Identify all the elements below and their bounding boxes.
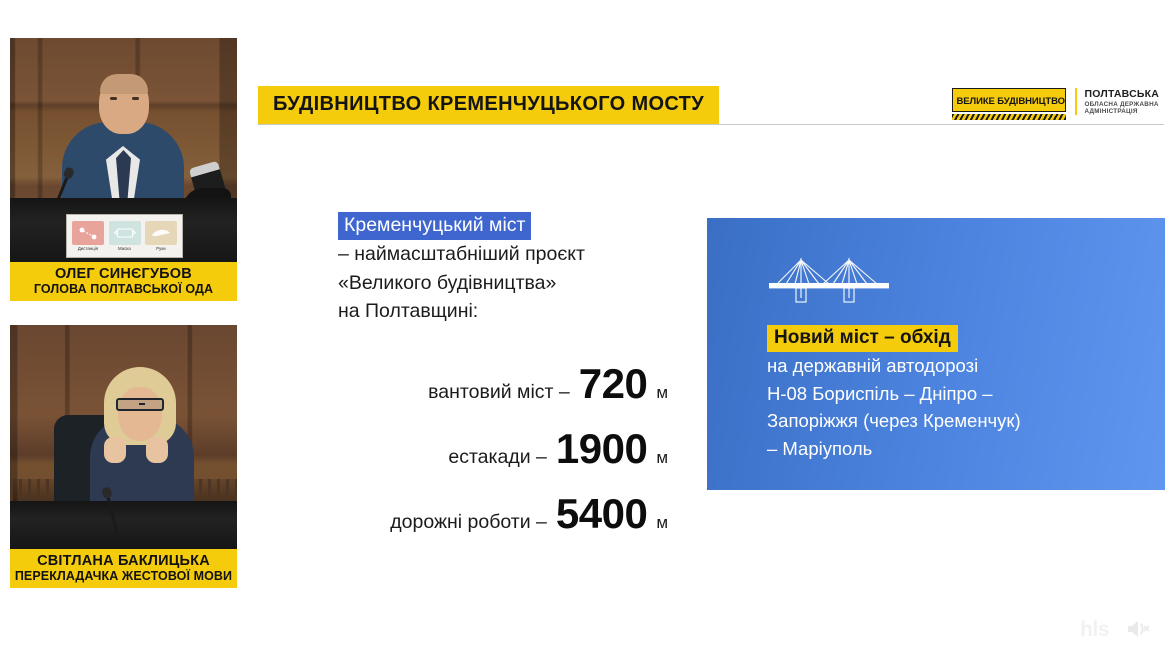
mask-icon [109, 221, 141, 245]
hands-label: Руки [156, 246, 165, 251]
oda-line-3: АДМІНІСТРАЦІЯ [1085, 108, 1159, 115]
speaker-2-role: ПЕРЕКЛАДАЧКА ЖЕСТОВОЇ МОВИ [12, 569, 235, 583]
desk [10, 501, 237, 549]
lead-highlight: Кременчуцький міст [338, 212, 531, 240]
panel-line-1: на державній автодорозі [767, 353, 1165, 380]
metric-unit: м [656, 513, 668, 533]
cable-stayed-bridge-icon [767, 254, 1165, 311]
covid-item-distance: Дистанція [71, 221, 105, 251]
metric-label: вантовий міст – [428, 381, 570, 404]
lead-line-3: на Полтавщині: [338, 298, 668, 326]
metrics-list: вантовий міст – 720 м естакади – 1900 м … [338, 360, 668, 538]
video-frame-speaker-1[interactable]: Дистанція Маска [10, 38, 237, 262]
speaker-sidebar: Дистанція Маска [10, 38, 237, 588]
covid-info-placard: Дистанція Маска [66, 214, 183, 258]
new-bridge-panel: Новий міст – обхід на державній автодоро… [707, 218, 1165, 490]
covid-item-mask: Маска [108, 221, 142, 251]
video-card-speaker-1[interactable]: Дистанція Маска [10, 38, 237, 301]
speaker-2-figure [76, 357, 196, 507]
covid-item-hands: Руки [144, 221, 178, 251]
main-text-block: Кременчуцький міст – наймасштабніший про… [338, 212, 668, 555]
video-frame-speaker-2[interactable] [10, 325, 237, 549]
panel-line-2: Н-08 Бориспіль – Дніпро – [767, 381, 1165, 408]
metric-row: вантовий міст – 720 м [338, 360, 668, 408]
hands-icon [145, 221, 177, 245]
metric-value: 1900 [556, 425, 647, 473]
slide-title-banner: БУДІВНИЦТВО КРЕМЕНЧУЦЬКОГО МОСТУ [258, 86, 719, 124]
player-watermark: hls [1080, 618, 1109, 642]
speaker-2-name: СВІТЛАНА БАКЛИЦЬКА [12, 553, 235, 569]
volume-muted-icon [1125, 618, 1151, 640]
poltava-oda-logo: ПОЛТАВСЬКА ОБЛАСНА ДЕРЖАВНА АДМІНІСТРАЦІ… [1075, 88, 1159, 115]
metric-unit: м [656, 383, 668, 403]
metric-row: естакади – 1900 м [338, 425, 668, 473]
distance-icon [72, 221, 104, 245]
speaker-1-caption: ОЛЕГ СИНЄГУБОВ ГОЛОВА ПОЛТАВСЬКОЇ ОДА [10, 262, 237, 301]
header-divider [258, 124, 1164, 125]
logo-stripes [952, 114, 1066, 120]
metric-row: дорожні роботи – 5400 м [338, 490, 668, 538]
metric-unit: м [656, 448, 668, 468]
video-card-speaker-2[interactable]: СВІТЛАНА БАКЛИЦЬКА ПЕРЕКЛАДАЧКА ЖЕСТОВОЇ… [10, 325, 237, 588]
velyke-budivnytstvo-logo: ВЕЛИКЕ БУДІВНИЦТВО [952, 88, 1066, 120]
speaker-1-role: ГОЛОВА ПОЛТАВСЬКОЇ ОДА [12, 282, 235, 296]
lead-line-2: «Великого будівництва» [338, 270, 668, 298]
distance-label: Дистанція [78, 246, 98, 251]
panel-line-4: – Маріуполь [767, 436, 1165, 463]
page-title: БУДІВНИЦТВО КРЕМЕНЧУЦЬКОГО МОСТУ [273, 93, 704, 115]
oda-line-2: ОБЛАСНА ДЕРЖАВНА [1085, 101, 1159, 108]
oda-line-1: ПОЛТАВСЬКА [1085, 88, 1159, 100]
lead-line-1: – наймасштабніший проєкт [338, 241, 668, 269]
metric-value: 720 [579, 360, 648, 408]
speaker-1-figure [62, 76, 184, 208]
panel-highlight: Новий міст – обхід [767, 325, 958, 352]
volume-mute-button[interactable] [1121, 614, 1155, 644]
metric-label: естакади – [448, 446, 547, 469]
velyke-budivnytstvo-label: ВЕЛИКЕ БУДІВНИЦТВО [957, 96, 1065, 107]
metric-value: 5400 [556, 490, 647, 538]
speaker-2-caption: СВІТЛАНА БАКЛИЦЬКА ПЕРЕКЛАДАЧКА ЖЕСТОВОЇ… [10, 549, 237, 588]
mask-label: Маска [118, 246, 131, 251]
panel-line-3: Запоріжжя (через Кременчук) [767, 408, 1165, 435]
metric-label: дорожні роботи – [390, 511, 547, 534]
speaker-1-name: ОЛЕГ СИНЄГУБОВ [12, 266, 235, 282]
header-logos: ВЕЛИКЕ БУДІВНИЦТВО ПОЛТАВСЬКА ОБЛАСНА ДЕ… [952, 88, 1159, 120]
